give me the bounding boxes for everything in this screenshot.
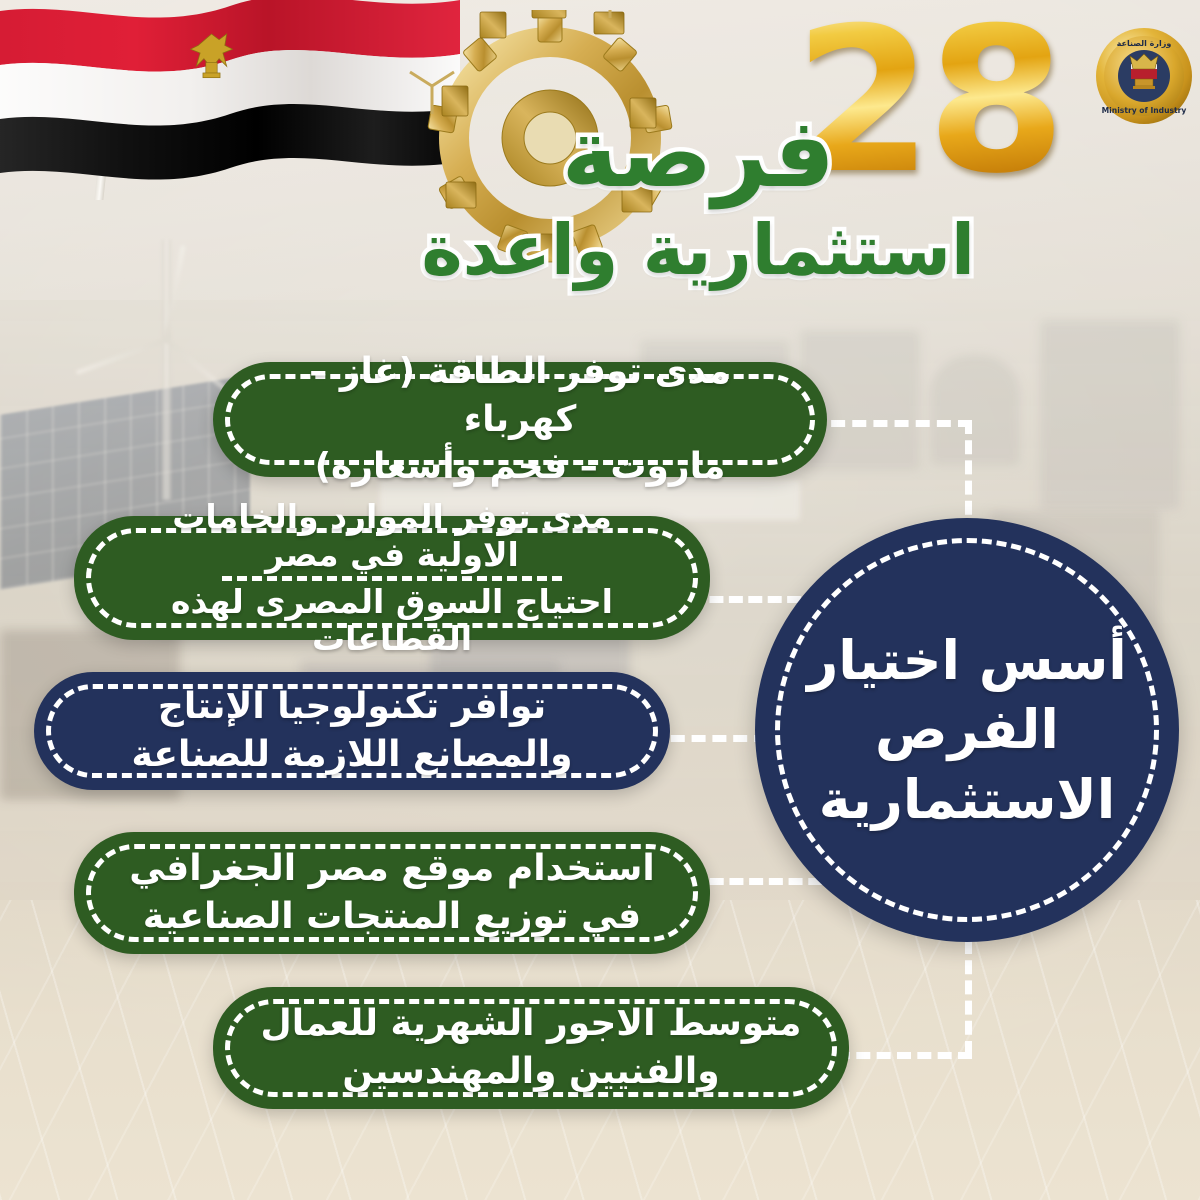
logo-arabic-label: وزارة الصناعة bbox=[1117, 39, 1172, 48]
logo-english-label: Ministry of Industry bbox=[1102, 106, 1187, 115]
criterion-line: مازوت – فحم وأسعاره) bbox=[315, 446, 726, 487]
criterion-line: مدى توفر الموارد والخامات الاولية في مصر bbox=[172, 497, 612, 574]
criterion-line: والمصانع اللازمة للصناعة bbox=[132, 734, 573, 775]
infographic-poster: Ministry of Industry وزارة الصناعة bbox=[0, 0, 1200, 1200]
criterion-line: في توزيع المنتجات الصناعية bbox=[143, 896, 641, 937]
criterion-text-geographic-location: استخدام موقع مصر الجغرافي في توزيع المنت… bbox=[85, 845, 699, 940]
criterion-text-energy: مدى توفر الطاقة (غاز – كهرباء مازوت – فح… bbox=[213, 348, 827, 491]
connector-wages-vertical bbox=[965, 940, 972, 1055]
headline-word-main: فرصة bbox=[561, 105, 835, 201]
criterion-line: استخدام موقع مصر الجغرافي bbox=[129, 848, 655, 889]
criterion-card-monthly-wages[interactable]: متوسط الاجور الشهرية للعمال والفنيين وال… bbox=[213, 987, 849, 1109]
headline-word-sub: استثمارية واعدة bbox=[421, 215, 975, 285]
criterion-card-production-technology[interactable]: توافر تكنولوجيا الإنتاج والمصانع اللازمة… bbox=[34, 672, 670, 790]
criterion-line: متوسط الاجور الشهرية للعمال bbox=[261, 1003, 802, 1044]
criterion-line: احتياج السوق المصرى لهذه القطاعات bbox=[171, 582, 613, 659]
criterion-card-energy[interactable]: مدى توفر الطاقة (غاز – كهرباء مازوت – فح… bbox=[213, 362, 827, 477]
criterion-card-resources-and-market[interactable]: مدى توفر الموارد والخامات الاولية في مصر… bbox=[74, 516, 710, 640]
headline-block: 28 فرصة استثمارية واعدة bbox=[380, 0, 1080, 320]
criterion-text-monthly-wages: متوسط الاجور الشهرية للعمال والفنيين وال… bbox=[217, 1000, 846, 1095]
ministry-of-industry-logo: Ministry of Industry وزارة الصناعة bbox=[1088, 20, 1200, 132]
criterion-line: مدى توفر الطاقة (غاز – كهرباء bbox=[309, 351, 730, 440]
center-circle-hub: أسس اختيار الفرص الاستثمارية bbox=[755, 518, 1179, 942]
criterion-card-geographic-location[interactable]: استخدام موقع مصر الجغرافي في توزيع المنت… bbox=[74, 832, 710, 954]
connector-energy-horizontal bbox=[810, 420, 972, 427]
connector-wages-horizontal bbox=[836, 1052, 972, 1059]
criterion-line: توافر تكنولوجيا الإنتاج bbox=[158, 686, 546, 727]
criterion-divider bbox=[222, 576, 562, 581]
criterion-line: والفنيين والمهندسين bbox=[342, 1051, 719, 1092]
criterion-text-production-technology: توافر تكنولوجيا الإنتاج والمصانع اللازمة… bbox=[88, 683, 617, 778]
center-circle-title: أسس اختيار الفرص الاستثمارية bbox=[802, 626, 1132, 833]
criterion-text-resources-and-market: مدى توفر الموارد والخامات الاولية في مصر… bbox=[74, 498, 710, 657]
